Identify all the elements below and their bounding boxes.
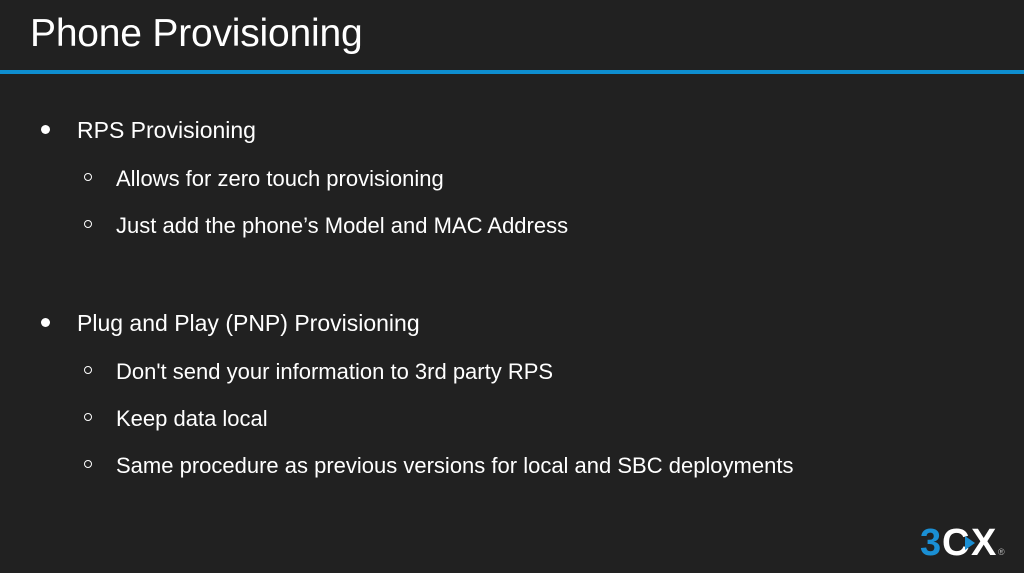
bullet-sublist: Don't send your information to 3rd party…: [0, 348, 1024, 489]
bullet-group: RPS Provisioning Allows for zero touch p…: [0, 108, 1024, 249]
bullet-level2: Allows for zero touch provisioning: [0, 155, 1024, 202]
bullet-level1: RPS Provisioning: [0, 108, 1024, 152]
svg-text:3: 3: [920, 523, 941, 563]
bullet-level2-label: Just add the phone’s Model and MAC Addre…: [116, 213, 568, 238]
svg-text:®: ®: [998, 547, 1005, 557]
bullet-level2: Keep data local: [0, 395, 1024, 442]
bullet-level1-label: Plug and Play (PNP) Provisioning: [77, 310, 420, 336]
title-divider: [0, 70, 1024, 74]
bullet-level2: Don't send your information to 3rd party…: [0, 348, 1024, 395]
circle-bullet-icon: [84, 173, 92, 181]
page-title: Phone Provisioning: [30, 8, 362, 60]
bullet-level2-label: Allows for zero touch provisioning: [116, 166, 444, 191]
bullet-level2-label: Don't send your information to 3rd party…: [116, 359, 553, 384]
3cx-logo: 3 C X ®: [920, 523, 1006, 563]
circle-bullet-icon: [84, 413, 92, 421]
group-spacer: [0, 249, 1024, 301]
bullet-level1: Plug and Play (PNP) Provisioning: [0, 301, 1024, 345]
slide-body: RPS Provisioning Allows for zero touch p…: [0, 108, 1024, 489]
svg-text:X: X: [971, 523, 997, 563]
slide: Phone Provisioning RPS Provisioning Allo…: [0, 0, 1024, 573]
circle-bullet-icon: [84, 366, 92, 374]
bullet-group: Plug and Play (PNP) Provisioning Don't s…: [0, 301, 1024, 489]
slide-title-area: Phone Provisioning: [0, 0, 1024, 72]
bullet-level2-label: Keep data local: [116, 406, 268, 431]
disc-bullet-icon: [41, 125, 50, 134]
disc-bullet-icon: [41, 318, 50, 327]
bullet-level1-label: RPS Provisioning: [77, 117, 256, 143]
bullet-level2: Just add the phone’s Model and MAC Addre…: [0, 202, 1024, 249]
circle-bullet-icon: [84, 220, 92, 228]
bullet-sublist: Allows for zero touch provisioning Just …: [0, 155, 1024, 249]
bullet-level2-label: Same procedure as previous versions for …: [116, 453, 793, 478]
bullet-level2: Same procedure as previous versions for …: [0, 442, 1024, 489]
circle-bullet-icon: [84, 460, 92, 468]
3cx-logo-icon: 3 C X ®: [920, 523, 1006, 563]
